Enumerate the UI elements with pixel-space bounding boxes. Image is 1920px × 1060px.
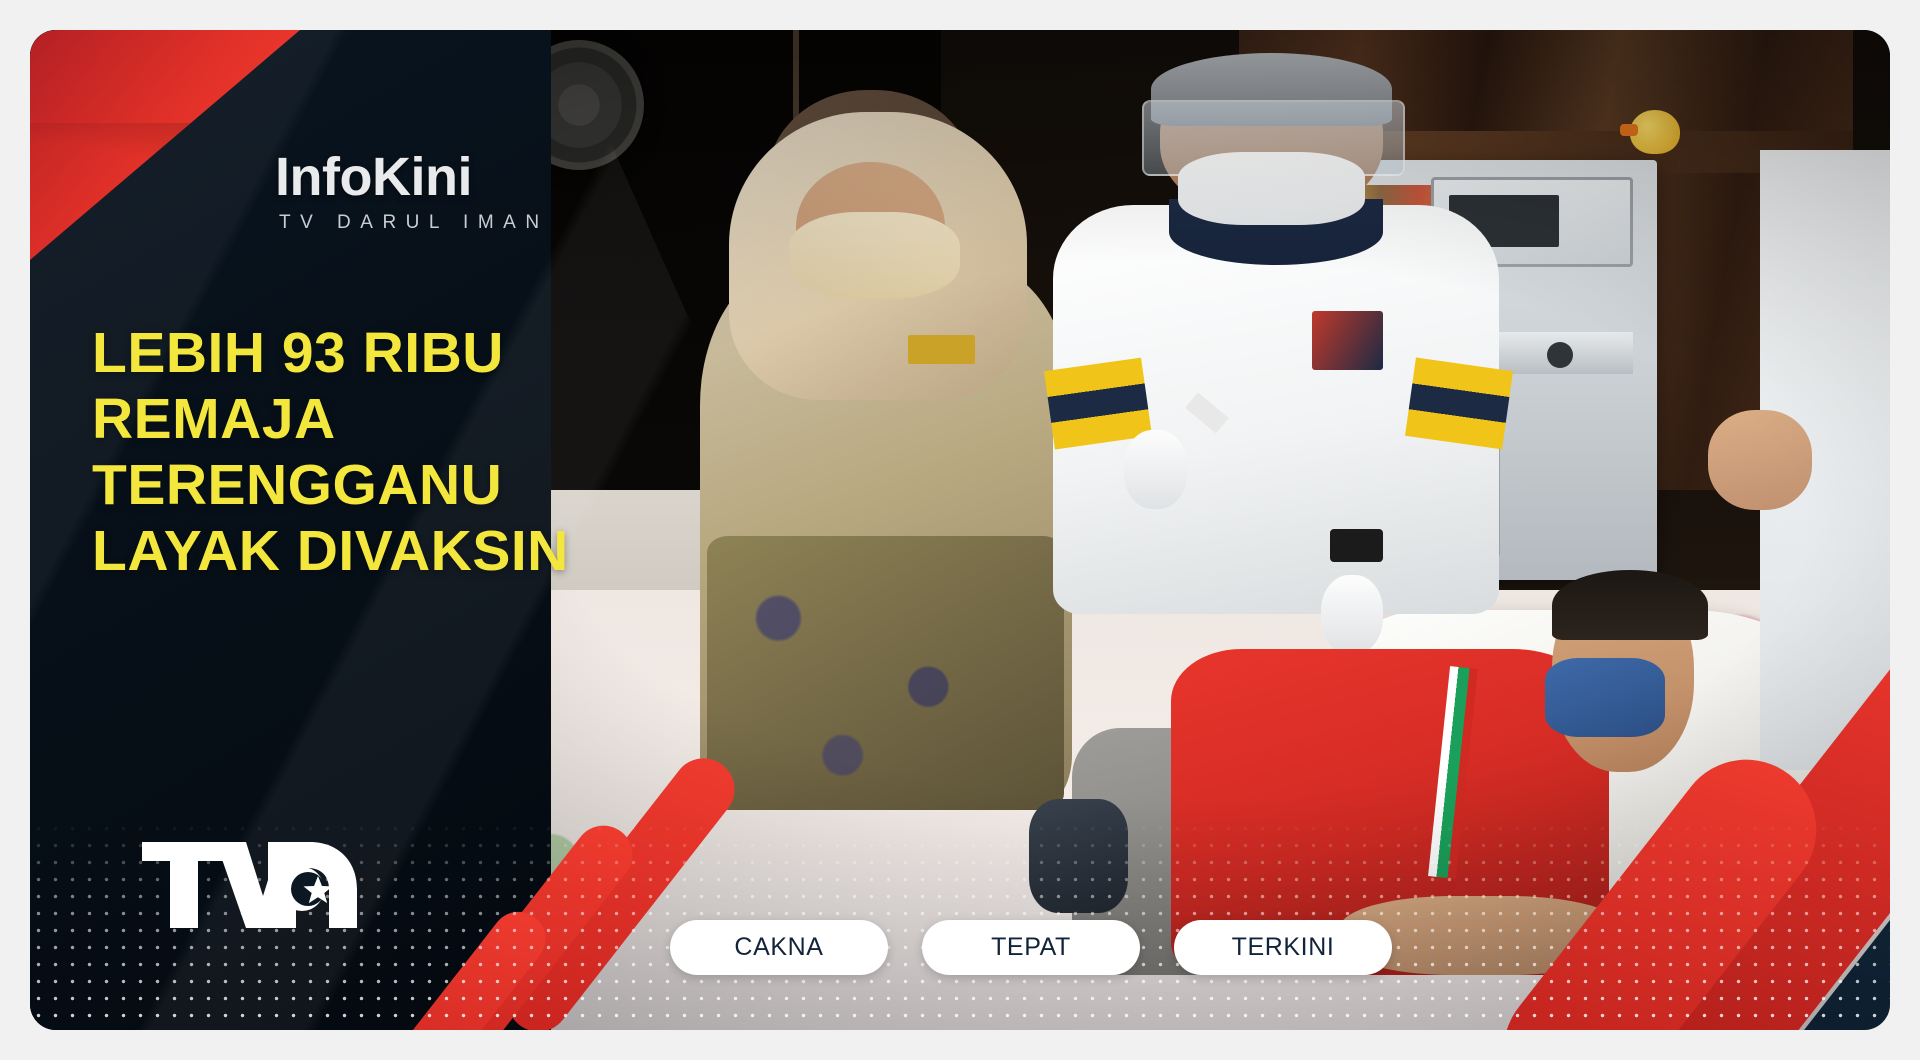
headline-block: LEBIH 93 RIBU REMAJA TERENGGANU LAYAK DI… (92, 320, 782, 584)
tagline-pill-cakna[interactable]: CAKNA (670, 920, 888, 975)
headline-line-4: LAYAK DIVAKSIN (92, 518, 782, 584)
tagline-pill-tepat[interactable]: TEPAT (922, 920, 1140, 975)
headline-line-1: LEBIH 93 RIBU (92, 320, 782, 386)
headline-line-2: REMAJA (92, 386, 782, 452)
tagline-pill-group: CAKNA TEPAT TERKINI (670, 920, 1392, 975)
brand-name: InfoKini (275, 150, 549, 204)
brand-lockup: InfoKini TV DARUL IMAN (275, 150, 549, 234)
brand-tagline: TV DARUL IMAN (275, 212, 549, 234)
tagline-pill-terkini[interactable]: TERKINI (1174, 920, 1392, 975)
tvd-logo (142, 842, 357, 928)
headline-line-3: TERENGGANU (92, 452, 782, 518)
news-thumbnail-card: InfoKini TV DARUL IMAN LEBIH 93 RIBU REM… (30, 30, 1890, 1030)
